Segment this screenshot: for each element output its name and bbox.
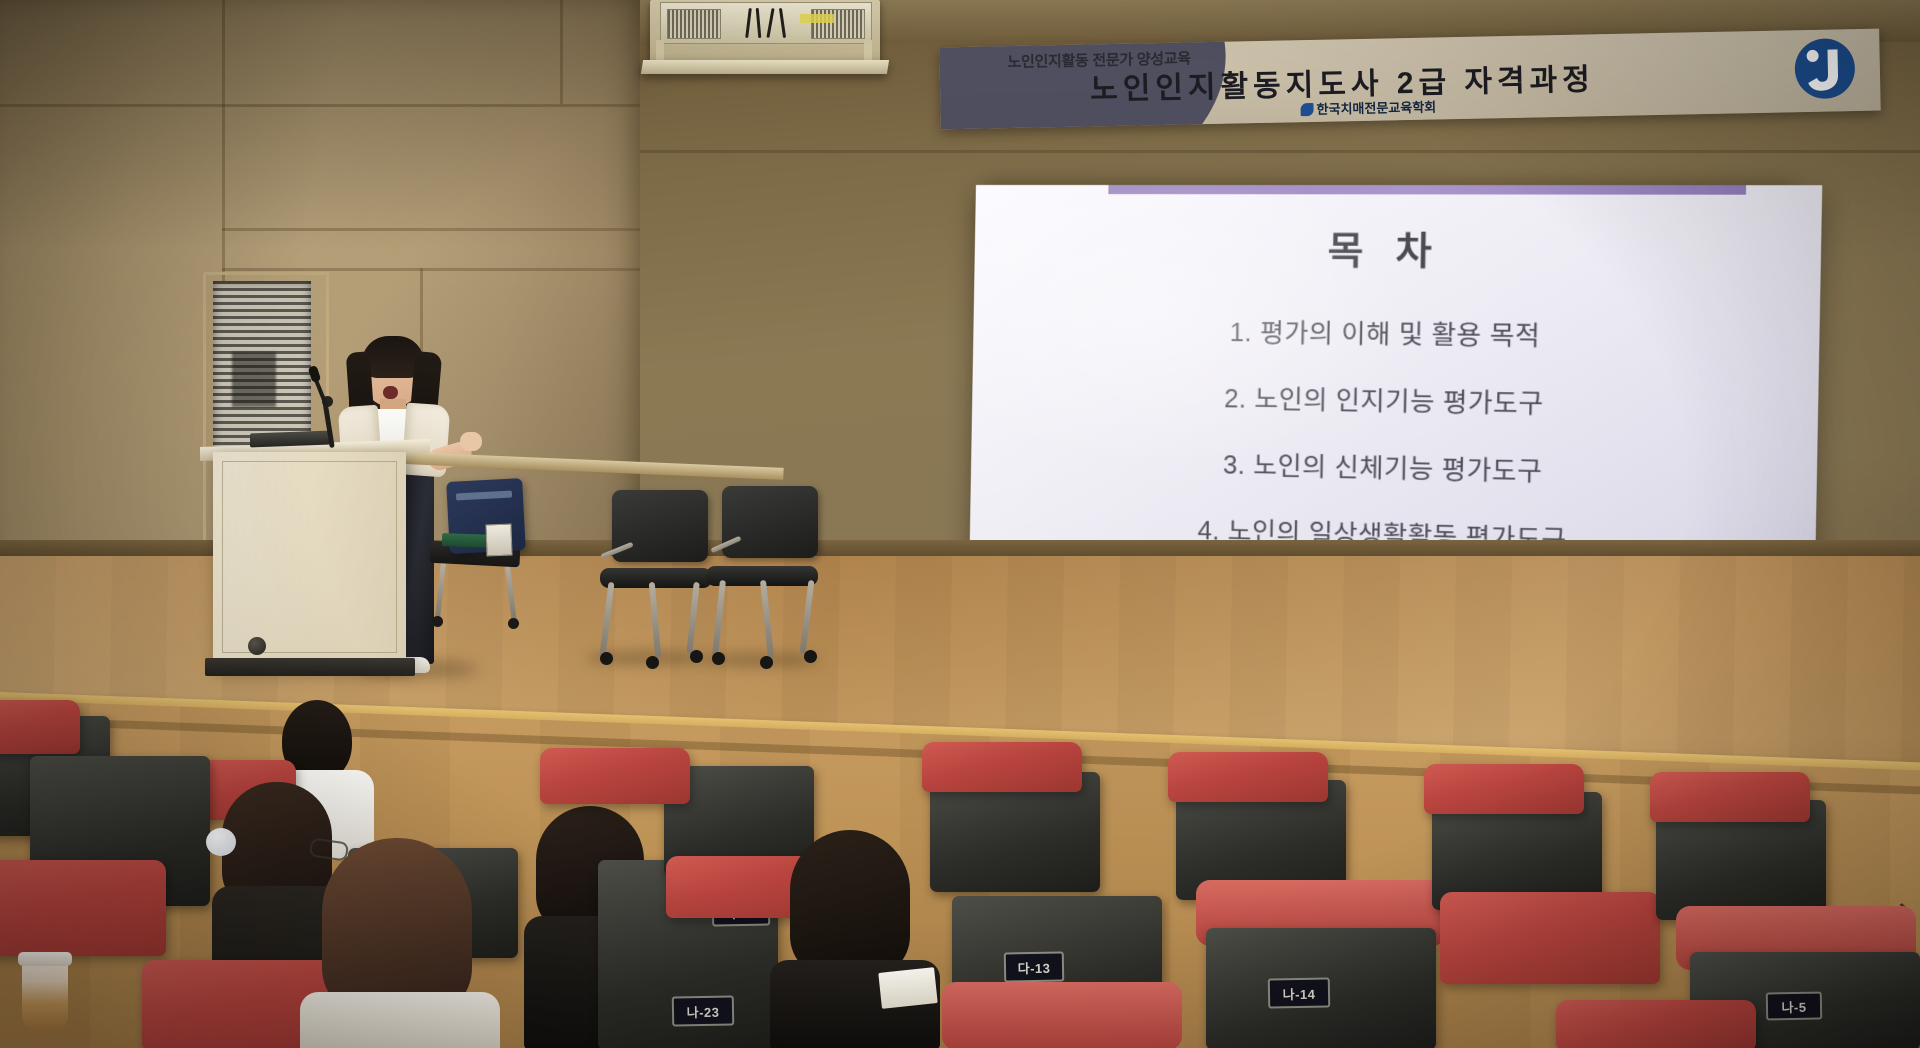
cup-lid xyxy=(18,952,72,966)
seat-cushion-mid-5[interactable] xyxy=(922,742,1082,792)
slide-item-3: 3. 노인의 신체기능 평가도구 xyxy=(971,440,1817,495)
presenter-hand xyxy=(460,432,482,451)
association-logo-icon xyxy=(1300,103,1313,116)
seat-cushion-far-1[interactable] xyxy=(0,700,80,754)
seat-number-na-5: 나-5 xyxy=(1766,992,1822,1021)
auditorium-presentation-photo: 노인인지활동 전문가 양성교육 노인인지활동지도사 2급 자격과정 한국치매전문… xyxy=(0,0,1920,1048)
handout-paper xyxy=(878,967,937,1009)
hair-scrunchie xyxy=(206,828,236,856)
lectern-base xyxy=(205,658,415,676)
name-card xyxy=(485,524,512,557)
louver-shadow xyxy=(232,352,276,407)
association-emblem-icon xyxy=(1791,35,1858,102)
seat-cushion-near-4[interactable] xyxy=(942,982,1182,1048)
lectern xyxy=(213,452,406,667)
seat-cushion-mid-8[interactable] xyxy=(1650,772,1810,822)
side-chair-caster-1 xyxy=(432,616,443,627)
lectern-knob xyxy=(248,637,266,655)
slide-title: 목 차 xyxy=(974,219,1821,279)
seat-number-text: 나-23 xyxy=(686,1001,719,1021)
seat-number-na-23: 나-23 xyxy=(672,995,735,1026)
slide-item-2: 2. 노인의 인지기능 평가도구 xyxy=(972,375,1819,426)
presenter-mouth xyxy=(383,386,398,399)
slide-item-1: 1. 평가의 이해 및 활용 목적 xyxy=(973,310,1820,357)
beverage-cup xyxy=(22,960,68,1030)
seat-cushion-mid-7[interactable] xyxy=(1424,764,1584,814)
wall-seam-line xyxy=(640,150,1920,153)
projector-sticker xyxy=(800,14,834,23)
banner-organization: 한국치매전문교육학회 xyxy=(1300,96,1436,118)
audience-head-near-3 xyxy=(790,830,910,978)
seat-cushion-mid-6[interactable] xyxy=(1168,752,1328,802)
seat-cushion-mid-4[interactable] xyxy=(540,748,690,804)
seat-number-na-14: 나-14 xyxy=(1268,977,1331,1008)
slide-accent-bar xyxy=(1108,185,1746,195)
seat-number-text: 나-5 xyxy=(1781,996,1806,1015)
projector-cables xyxy=(745,8,805,42)
audience-head-near-1 xyxy=(322,838,472,1018)
projector-shelf xyxy=(641,60,889,74)
seat-cushion-near-8[interactable] xyxy=(1556,1000,1756,1048)
side-chair-caster-2 xyxy=(508,618,519,629)
audience-body-near-1 xyxy=(300,992,500,1048)
seat-cushion-mid-left[interactable] xyxy=(0,860,166,956)
seat-number-text: 다-13 xyxy=(1017,957,1050,977)
lectern-control-panel xyxy=(250,431,330,448)
seat-number-text: 나-14 xyxy=(1282,983,1315,1003)
seat-cushion-near-6[interactable] xyxy=(1440,892,1660,984)
seat-number-da-13: 다-13 xyxy=(1004,951,1065,982)
lectern-panel-inset xyxy=(222,461,397,653)
